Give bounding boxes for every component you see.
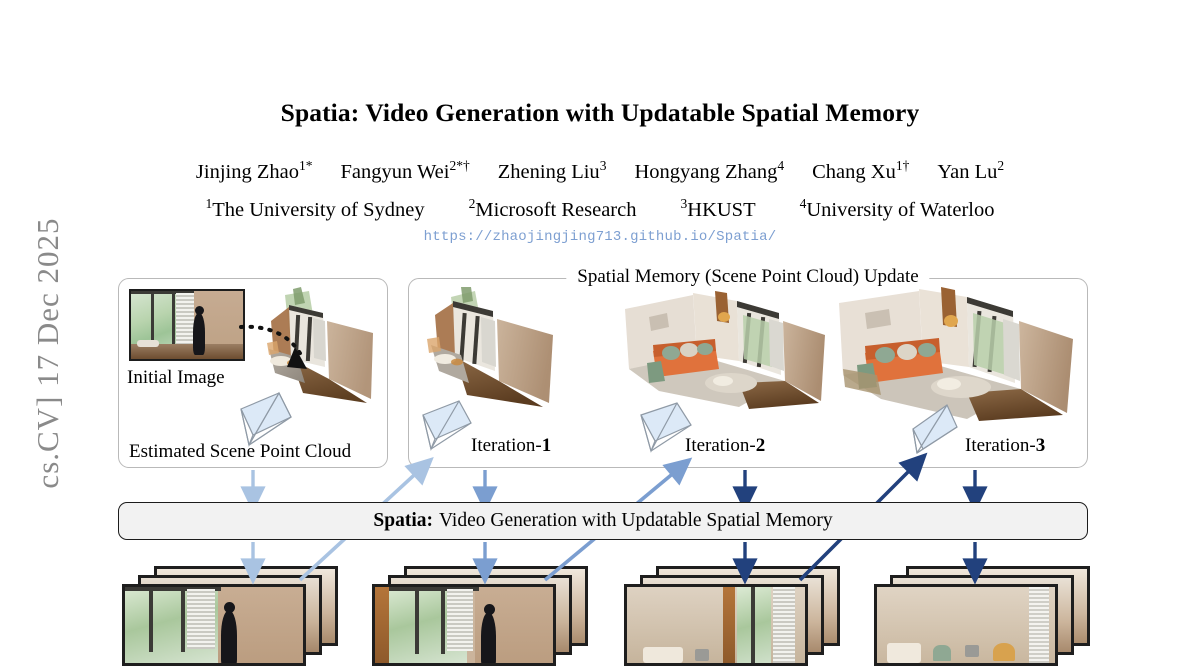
- iteration-3-index: 3: [1036, 435, 1046, 456]
- estimated-point-cloud-caption: Estimated Scene Point Cloud: [129, 441, 351, 463]
- video-frame-front: [122, 584, 306, 666]
- coffee-table: [137, 340, 159, 347]
- video-frame-front: [372, 584, 556, 666]
- point-cloud-iteration-2: [619, 283, 829, 415]
- iteration-2-caption: Iteration-2: [685, 435, 765, 457]
- iteration-2-index: 2: [756, 435, 766, 456]
- video-frame-front: [624, 584, 808, 666]
- person-silhouette: [193, 313, 205, 355]
- dotted-transfer-arrow: [237, 303, 337, 377]
- window-mullion: [151, 291, 154, 344]
- point-cloud-iteration-1: [417, 287, 569, 415]
- video-frame-front: [874, 584, 1058, 666]
- iteration-3-caption: Iteration-3: [965, 435, 1045, 457]
- iteration-1-index: 1: [542, 435, 552, 456]
- initial-scene-panel: Initial Image: [118, 278, 388, 468]
- teaser-figure: Initial Image: [0, 0, 1200, 648]
- spatial-memory-update-panel: Spatial Memory (Scene Point Cloud) Updat…: [408, 278, 1088, 468]
- window-blind: [176, 293, 194, 345]
- banner-description: Video Generation with Updatable Spatial …: [439, 510, 833, 532]
- iteration-3-label: Iteration-: [965, 435, 1036, 456]
- iteration-2-label: Iteration-: [685, 435, 756, 456]
- initial-image-thumbnail: [129, 289, 245, 361]
- window-mullion: [172, 291, 175, 344]
- iteration-1-caption: Iteration-1: [471, 435, 551, 457]
- banner-model-name: Spatia:: [373, 510, 433, 532]
- spatia-model-banner: Spatia: Video Generation with Updatable …: [118, 502, 1088, 540]
- person-head: [195, 306, 204, 315]
- initial-image-caption: Initial Image: [127, 367, 225, 389]
- iteration-1-label: Iteration-: [471, 435, 542, 456]
